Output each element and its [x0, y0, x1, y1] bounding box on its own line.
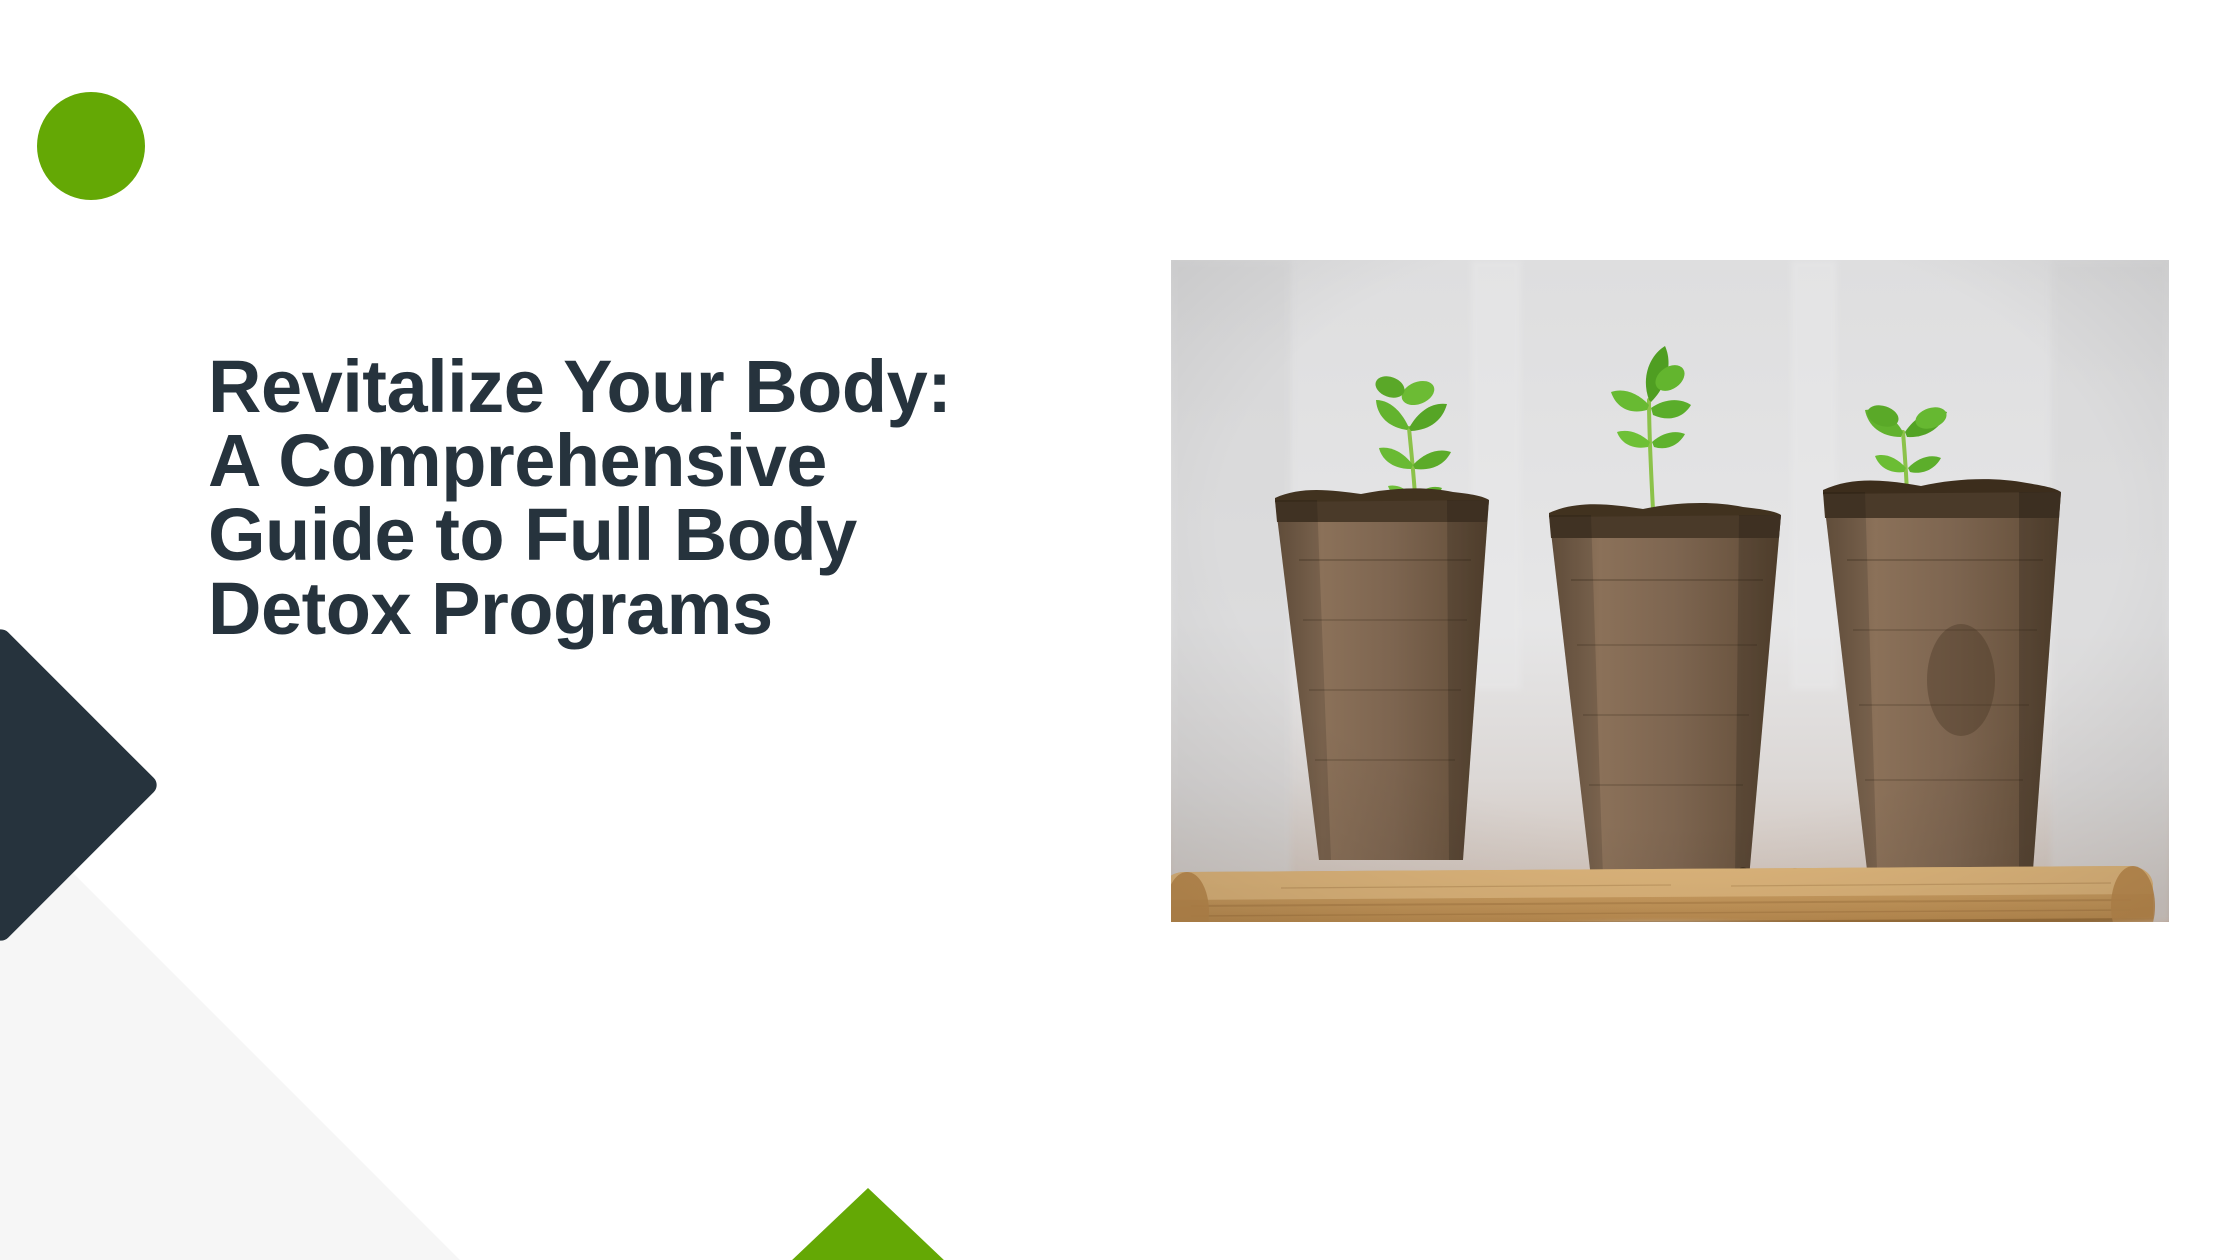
page-title: Revitalize Your Body: A Comprehensive Gu… — [208, 350, 1208, 646]
green-circle-decoration — [37, 92, 145, 200]
navy-chevron-decoration — [0, 625, 161, 945]
hero-photo — [1171, 260, 2169, 922]
slide-canvas: Revitalize Your Body: A Comprehensive Gu… — [0, 0, 2240, 1260]
title-block: Revitalize Your Body: A Comprehensive Gu… — [208, 350, 1208, 646]
green-triangle-decoration — [790, 1188, 946, 1260]
